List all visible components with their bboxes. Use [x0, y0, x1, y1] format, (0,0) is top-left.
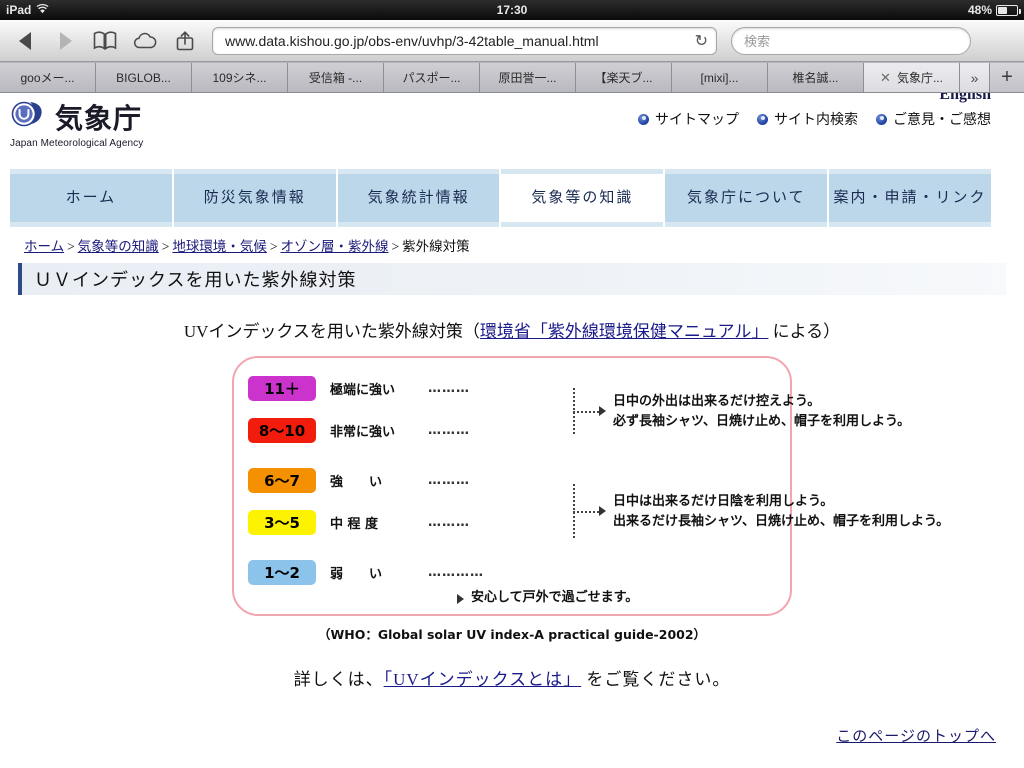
arrow-head-icon — [457, 594, 464, 604]
close-icon[interactable]: ✕ — [880, 70, 891, 86]
reload-icon[interactable]: ↻ — [689, 31, 708, 51]
uv-level-label: 非常に強い — [330, 421, 428, 440]
browser-tab[interactable]: 受信箱 -... — [288, 63, 384, 92]
new-tab-button[interactable]: + — [990, 63, 1024, 92]
site-header: 気象庁 Japan Meteorological Agency English … — [0, 93, 1024, 161]
lead-suffix: による） — [768, 322, 840, 341]
sitemap-label: サイトマップ — [655, 109, 739, 129]
site-search-link[interactable]: サイト内検索 — [757, 109, 858, 129]
breadcrumb-item-0[interactable]: ホーム — [24, 239, 64, 254]
bracket-horizontal — [573, 511, 599, 513]
breadcrumb-separator: > — [391, 239, 399, 254]
advice-line-1: 日中は出来るだけ日陰を利用しよう。 — [613, 492, 949, 512]
breadcrumb-separator: > — [162, 239, 170, 254]
nav-item-about-jma[interactable]: 気象庁について — [665, 169, 827, 227]
lead-paragraph: UVインデックスを用いた紫外線対策（環境省「紫外線環境保健マニュアル」 による） — [0, 317, 1024, 342]
tab-bar: gooメー... BIGLOB... 109シネ... 受信箱 -... パスポ… — [0, 62, 1024, 93]
search-placeholder: 検索 — [744, 31, 770, 50]
site-logo-en: Japan Meteorological Agency — [10, 138, 143, 149]
global-navigation: ホーム 防災気象情報 気象統計情報 気象等の知識 気象庁について 案内・申請・リ… — [10, 169, 991, 227]
breadcrumb-item-4: 紫外線対策 — [402, 239, 470, 254]
connector-dots: ……… — [428, 473, 470, 488]
tab-label: 109シネ... — [212, 69, 266, 86]
bracket-horizontal — [573, 411, 599, 413]
search-input[interactable]: 検索 — [731, 27, 971, 55]
uv-row: 1〜2 弱 い ………… — [248, 556, 772, 588]
icloud-tabs-icon[interactable] — [132, 28, 158, 54]
advice-line-1: 日中の外出は出来るだけ控えよう。 — [613, 392, 910, 412]
browser-toolbar: www.data.kishou.go.jp/obs-env/uvhp/3-42t… — [0, 20, 1024, 62]
browser-tab-active[interactable]: ✕ 気象庁... — [864, 63, 960, 92]
feedback-label: ご意見・ご感想 — [893, 109, 991, 129]
status-right: 48% — [968, 3, 1018, 17]
bullet-icon — [638, 114, 649, 125]
page-title: ＵＶインデックスを用いた紫外線対策 — [18, 263, 1006, 295]
breadcrumb-item-2[interactable]: 地球環境・気候 — [172, 239, 267, 254]
tab-label: 椎名誠... — [792, 69, 838, 86]
back-arrow-icon[interactable] — [12, 28, 38, 54]
connector-dots: ……… — [428, 381, 470, 396]
uv-advice-text: 安心して戸外で過ごせます。 — [471, 588, 638, 608]
site-logo-jp: 気象庁 — [55, 97, 142, 137]
sitemap-link[interactable]: サイトマップ — [638, 109, 739, 129]
browser-tab[interactable]: 109シネ... — [192, 63, 288, 92]
share-action-icon[interactable] — [172, 28, 198, 54]
tab-label: 【楽天ブ... — [594, 69, 652, 86]
browser-tab[interactable]: 【楽天ブ... — [576, 63, 672, 92]
uv-range-badge: 3〜5 — [248, 510, 316, 535]
advice-line-2: 出来るだけ長袖シャツ、日焼け止め、帽子を利用しよう。 — [613, 512, 949, 532]
address-bar[interactable]: www.data.kishou.go.jp/obs-env/uvhp/3-42t… — [212, 27, 717, 55]
status-clock: 17:30 — [0, 3, 1024, 17]
tab-label: 受信箱 -... — [309, 69, 362, 86]
browser-tab[interactable]: パスポー... — [384, 63, 480, 92]
bullet-icon — [876, 114, 887, 125]
tab-label: [mixi]... — [701, 71, 739, 85]
arrow-head-icon — [599, 506, 606, 516]
uv-range-badge: 11＋ — [248, 376, 316, 401]
back-to-top-link[interactable]: このページのトップへ — [836, 725, 996, 746]
connector-dots: ………… — [428, 565, 484, 580]
status-left: iPad — [6, 3, 49, 17]
browser-tab[interactable]: [mixi]... — [672, 63, 768, 92]
tab-label: gooメー... — [20, 69, 74, 86]
breadcrumb: ホーム>気象等の知識>地球環境・気候>オゾン層・紫外線>紫外線対策 — [24, 235, 1024, 255]
arrow-head-icon — [599, 406, 606, 416]
feedback-link[interactable]: ご意見・ご感想 — [876, 109, 991, 129]
uv-advice-text: 日中は出来るだけ日陰を利用しよう。 出来るだけ長袖シャツ、日焼け止め、帽子を利用… — [613, 492, 949, 532]
uv-index-figure: 11＋ 極端に強い ……… 8〜10 非常に強い ……… 6〜7 強 い ………… — [232, 356, 792, 616]
breadcrumb-separator: > — [67, 239, 75, 254]
main-content: UVインデックスを用いた紫外線対策（環境省「紫外線環境保健マニュアル」 による）… — [0, 295, 1024, 690]
connector-dots: ……… — [428, 423, 470, 438]
uv-index-rows: 11＋ 極端に強い ……… 8〜10 非常に強い ……… 6〜7 強 い ………… — [248, 372, 772, 588]
battery-percent-label: 48% — [968, 3, 992, 17]
uv-advice-text: 日中の外出は出来るだけ控えよう。 必ず長袖シャツ、日焼け止め、帽子を利用しよう。 — [613, 392, 910, 432]
tab-overflow-button[interactable]: » — [960, 63, 990, 92]
uv-level-label: 極端に強い — [330, 379, 428, 398]
connector-dots: ……… — [428, 515, 470, 530]
site-search-label: サイト内検索 — [774, 109, 858, 129]
uv-range-badge: 8〜10 — [248, 418, 316, 443]
who-source-caption: （WHO：Global solar UV index-A practical g… — [0, 624, 1024, 643]
uv-range-badge: 6〜7 — [248, 468, 316, 493]
breadcrumb-separator: > — [270, 239, 278, 254]
bullet-icon — [757, 114, 768, 125]
breadcrumb-item-3[interactable]: オゾン層・紫外線 — [280, 239, 388, 254]
tab-label: BIGLOB... — [116, 71, 171, 85]
uv-level-label: 強 い — [330, 471, 428, 490]
browser-tab[interactable]: BIGLOB... — [96, 63, 192, 92]
uv-index-about-link[interactable]: 「UVインデックスとは」 — [384, 670, 582, 689]
uv-level-label: 中 程 度 — [330, 513, 428, 532]
url-text: www.data.kishou.go.jp/obs-env/uvhp/3-42t… — [225, 33, 689, 49]
more-suffix: をご覧ください。 — [581, 670, 730, 689]
advice-line-2: 必ず長袖シャツ、日焼け止め、帽子を利用しよう。 — [613, 412, 910, 432]
breadcrumb-item-1[interactable]: 気象等の知識 — [78, 239, 159, 254]
web-page: 気象庁 Japan Meteorological Agency English … — [0, 93, 1024, 768]
uv-level-label: 弱 い — [330, 563, 428, 582]
nav-item-weather-knowledge[interactable]: 気象等の知識 — [501, 169, 663, 227]
tab-label: パスポー... — [402, 69, 460, 86]
ios-status-bar: iPad 17:30 48% — [0, 0, 1024, 20]
advice-line-1: 安心して戸外で過ごせます。 — [471, 588, 638, 608]
site-logo[interactable]: 気象庁 Japan Meteorological Agency — [10, 97, 143, 149]
nav-item-weather-statistics[interactable]: 気象統計情報 — [338, 169, 500, 227]
header-links: サイトマップ サイト内検索 ご意見・ご感想 — [638, 109, 991, 129]
uv-range-badge: 1〜2 — [248, 560, 316, 585]
device-label: iPad — [6, 3, 31, 17]
nav-item-guide-application-links[interactable]: 案内・申請・リンク — [829, 169, 991, 227]
tab-label: 気象庁... — [897, 69, 943, 86]
more-prefix: 詳しくは、 — [294, 670, 384, 689]
browser-tab[interactable]: 椎名誠... — [768, 63, 864, 92]
more-info-line: 詳しくは、「UVインデックスとは」 をご覧ください。 — [0, 665, 1024, 690]
forward-arrow-icon[interactable] — [52, 28, 78, 54]
bookmarks-book-icon[interactable] — [92, 28, 118, 54]
battery-icon — [996, 5, 1018, 16]
wifi-icon — [36, 3, 49, 17]
nav-item-home[interactable]: ホーム — [10, 169, 172, 227]
english-link[interactable]: English — [939, 93, 991, 104]
tab-label: 原田誉一... — [498, 69, 556, 86]
browser-tab[interactable]: 原田誉一... — [480, 63, 576, 92]
nav-item-disaster-weather-info[interactable]: 防災気象情報 — [174, 169, 336, 227]
browser-tab[interactable]: gooメー... — [0, 63, 96, 92]
lead-prefix: UVインデックスを用いた紫外線対策（ — [184, 322, 480, 341]
manual-link[interactable]: 環境省「紫外線環境保健マニュアル」 — [480, 322, 769, 341]
jma-logo-icon — [10, 100, 48, 134]
